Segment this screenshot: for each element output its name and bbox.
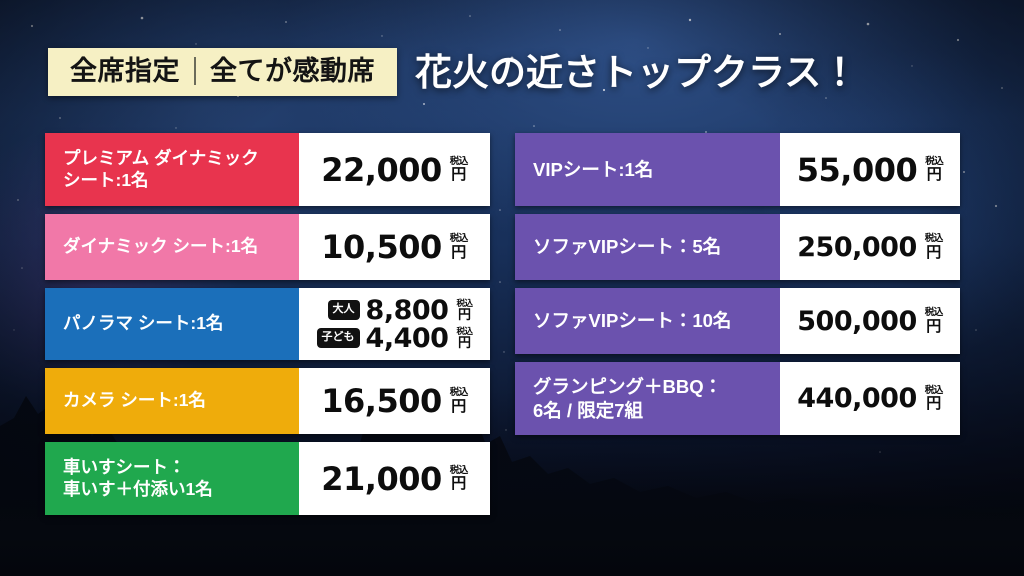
price-line: 22,000 税込 円 [321, 154, 468, 186]
tax-included-yen: 税込 円 [925, 157, 943, 183]
tax-included-yen: 税込 円 [450, 466, 468, 492]
yen-symbol: 円 [451, 399, 466, 414]
table-row: ダイナミック シート:1名 10,500 税込 円 [45, 214, 490, 280]
tax-included-yen: 税込 円 [925, 234, 943, 260]
adult-tag: 大人 [328, 300, 360, 320]
tax-included-yen: 税込 円 [456, 327, 472, 350]
seat-name-vip: VIPシート:1名 [515, 133, 780, 206]
seat-name-glamping-bbq: グランピング＋BBQ：6名 / 限定7組 [515, 362, 780, 435]
badge-divider-icon [194, 57, 196, 85]
yen-symbol: 円 [926, 319, 941, 334]
price-cell: 16,500 税込 円 [299, 368, 490, 434]
price-line: 250,000 税込 円 [797, 234, 943, 261]
tax-included-yen: 税込 円 [925, 386, 943, 412]
badge-left-text: 全席指定 [70, 58, 180, 85]
badge-right-text: 全てが感動席 [210, 58, 375, 85]
tax-included-yen: 税込 円 [450, 234, 468, 260]
seat-name-dynamic: ダイナミック シート:1名 [45, 214, 299, 280]
tax-label: 税込 [456, 327, 472, 336]
price-cell: 55,000 税込 円 [780, 133, 960, 206]
price-amount: 8,800 [366, 297, 449, 324]
price-amount: 500,000 [797, 308, 916, 335]
price-stack: 大人 8,800 税込 円 子ども 4,400 税込 円 [317, 297, 473, 352]
price-cell: 22,000 税込 円 [299, 133, 490, 206]
seat-label-text: 車いすシート：車いす＋付添い1名 [63, 457, 213, 501]
tax-label: 税込 [456, 299, 472, 308]
price-amount: 21,000 [321, 463, 441, 495]
price-amount: 440,000 [797, 385, 916, 412]
price-line: 10,500 税込 円 [321, 231, 468, 263]
seat-name-wheelchair: 車いすシート：車いす＋付添い1名 [45, 442, 299, 515]
price-cell: 440,000 税込 円 [780, 362, 960, 435]
yen-symbol: 円 [926, 396, 941, 411]
seat-label-text: VIPシート:1名 [533, 158, 653, 181]
price-amount: 55,000 [797, 154, 917, 186]
yen-symbol: 円 [451, 245, 466, 260]
price-line: 440,000 税込 円 [797, 385, 943, 412]
price-amount: 10,500 [321, 231, 441, 263]
price-cell: 250,000 税込 円 [780, 214, 960, 280]
price-amount: 4,400 [366, 325, 449, 352]
seat-label-text: ソファVIPシート：10名 [533, 309, 731, 332]
seat-name-sofa-vip-5: ソファVIPシート：5名 [515, 214, 780, 280]
table-row: パノラマ シート:1名 大人 8,800 税込 円 子ども 4,400 [45, 288, 490, 360]
table-row: 車いすシート：車いす＋付添い1名 21,000 税込 円 [45, 442, 490, 515]
seat-name-camera: カメラ シート:1名 [45, 368, 299, 434]
tax-included-yen: 税込 円 [450, 388, 468, 414]
table-row: プレミアム ダイナミックシート:1名 22,000 税込 円 [45, 133, 490, 206]
yen-symbol: 円 [451, 167, 466, 182]
page-title: 花火の近さトップクラス！ [415, 54, 858, 91]
tax-label: 税込 [450, 157, 468, 167]
price-cell: 大人 8,800 税込 円 子ども 4,400 税込 円 [299, 288, 490, 360]
price-amount: 250,000 [797, 234, 916, 261]
all-reserved-seats-badge: 全席指定 全てが感動席 [48, 48, 397, 96]
yen-symbol: 円 [458, 336, 471, 349]
tax-included-yen: 税込 円 [450, 157, 468, 183]
price-table-left: プレミアム ダイナミックシート:1名 22,000 税込 円 ダイナミック シー… [45, 133, 490, 515]
price-line: 500,000 税込 円 [797, 308, 943, 335]
tax-label: 税込 [925, 308, 943, 318]
seat-name-panorama: パノラマ シート:1名 [45, 288, 299, 360]
seat-label-text: プレミアム ダイナミックシート:1名 [63, 148, 259, 192]
seat-label-text: ソファVIPシート：5名 [533, 235, 721, 258]
seat-label-text: グランピング＋BBQ：6名 / 限定7組 [533, 375, 722, 421]
price-line: 21,000 税込 円 [321, 463, 468, 495]
table-row: ソファVIPシート：5名 250,000 税込 円 [515, 214, 960, 280]
price-cell: 500,000 税込 円 [780, 288, 960, 354]
yen-symbol: 円 [458, 308, 471, 321]
price-line: 16,500 税込 円 [321, 385, 468, 417]
price-table-right: VIPシート:1名 55,000 税込 円 ソファVIPシート：5名 250,0… [515, 133, 960, 435]
tax-included-yen: 税込 円 [456, 299, 472, 322]
table-row: グランピング＋BBQ：6名 / 限定7組 440,000 税込 円 [515, 362, 960, 435]
tax-label: 税込 [450, 388, 468, 398]
table-row: VIPシート:1名 55,000 税込 円 [515, 133, 960, 206]
table-row: カメラ シート:1名 16,500 税込 円 [45, 368, 490, 434]
tax-label: 税込 [450, 234, 468, 244]
price-line-child: 子ども 4,400 税込 円 [317, 325, 473, 352]
header: 全席指定 全てが感動席 花火の近さトップクラス！ [48, 48, 858, 96]
price-amount: 22,000 [321, 154, 441, 186]
poster-stage: 全席指定 全てが感動席 花火の近さトップクラス！ プレミアム ダイナミックシート… [0, 0, 1024, 576]
price-cell: 10,500 税込 円 [299, 214, 490, 280]
yen-symbol: 円 [451, 476, 466, 491]
seat-label-text: パノラマ シート:1名 [63, 313, 223, 335]
price-line: 55,000 税込 円 [797, 154, 944, 186]
seat-label-text: カメラ シート:1名 [63, 390, 206, 412]
yen-symbol: 円 [927, 167, 942, 182]
seat-label-text: ダイナミック シート:1名 [63, 236, 258, 258]
tax-label: 税込 [925, 234, 943, 244]
seat-name-sofa-vip-10: ソファVIPシート：10名 [515, 288, 780, 354]
table-row: ソファVIPシート：10名 500,000 税込 円 [515, 288, 960, 354]
price-cell: 21,000 税込 円 [299, 442, 490, 515]
tax-label: 税込 [925, 157, 943, 167]
price-line-adult: 大人 8,800 税込 円 [328, 297, 473, 324]
yen-symbol: 円 [926, 245, 941, 260]
seat-name-premium-dynamic: プレミアム ダイナミックシート:1名 [45, 133, 299, 206]
child-tag: 子ども [317, 328, 360, 348]
tax-label: 税込 [450, 466, 468, 476]
tax-included-yen: 税込 円 [925, 308, 943, 334]
price-amount: 16,500 [321, 385, 441, 417]
tax-label: 税込 [925, 386, 943, 396]
